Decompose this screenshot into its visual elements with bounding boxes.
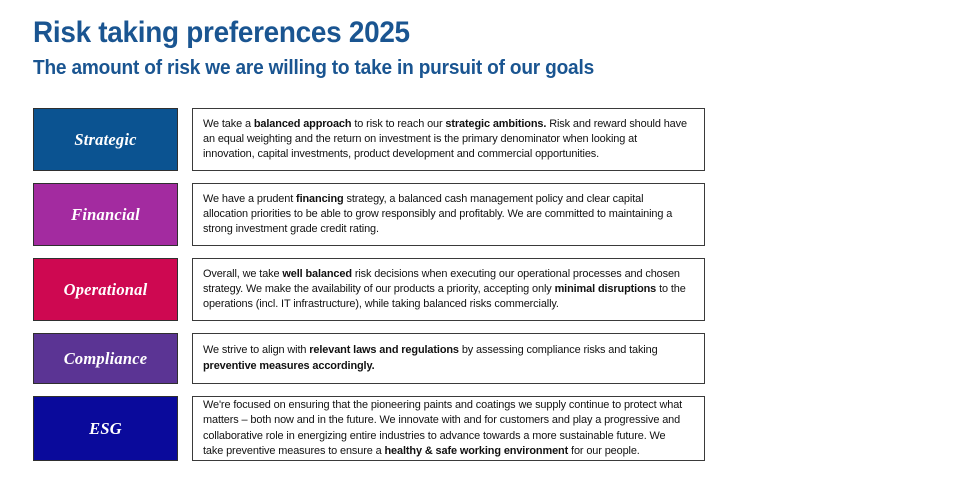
row-spacer xyxy=(33,384,705,396)
table-row: FinancialWe have a prudent financing str… xyxy=(33,183,705,246)
plain-text: Overall, we take xyxy=(203,268,282,280)
risk-description-cell: We strive to align with relevant laws an… xyxy=(192,333,705,384)
slide-header: Risk taking preferences 2025 The amount … xyxy=(33,16,913,80)
risk-category-cell[interactable]: Compliance xyxy=(33,333,178,384)
risk-description-cell: We're focused on ensuring that the pione… xyxy=(192,396,705,461)
table-row: StrategicWe take a balanced approach to … xyxy=(33,108,705,171)
table-row: ESGWe're focused on ensuring that the pi… xyxy=(33,396,705,461)
emphasis-text: well balanced xyxy=(282,268,352,280)
risk-category-cell[interactable]: ESG xyxy=(33,396,178,461)
table-row: OperationalOverall, we take well balance… xyxy=(33,258,705,321)
plain-text: We have a prudent xyxy=(203,193,296,205)
emphasis-text: strategic ambitions. xyxy=(445,118,546,130)
page-title: Risk taking preferences 2025 xyxy=(33,16,851,50)
risk-description-text: We're focused on ensuring that the pione… xyxy=(203,398,688,459)
row-spacer xyxy=(33,246,705,258)
page-subtitle: The amount of risk we are willing to tak… xyxy=(33,56,851,80)
risk-category-cell[interactable]: Financial xyxy=(33,183,178,246)
risk-category-label: Compliance xyxy=(64,350,148,368)
risk-category-label: Operational xyxy=(64,281,148,299)
table-row: ComplianceWe strive to align with releva… xyxy=(33,333,705,384)
emphasis-text: financing xyxy=(296,193,344,205)
risk-category-cell[interactable]: Strategic xyxy=(33,108,178,171)
risk-category-label: ESG xyxy=(89,420,122,438)
column-gap xyxy=(178,183,192,246)
emphasis-text: minimal disruptions xyxy=(555,283,657,295)
risk-description-text: We take a balanced approach to risk to r… xyxy=(203,117,688,163)
risk-description-text: We have a prudent financing strategy, a … xyxy=(203,192,688,238)
plain-text: for our people. xyxy=(568,445,640,457)
risk-description-cell: Overall, we take well balanced risk deci… xyxy=(192,258,705,321)
column-gap xyxy=(178,108,192,171)
risk-category-label: Strategic xyxy=(74,131,136,149)
slide-canvas: Risk taking preferences 2025 The amount … xyxy=(0,0,960,500)
risk-description-text: Overall, we take well balanced risk deci… xyxy=(203,267,688,313)
plain-text: by assessing compliance risks and taking xyxy=(459,344,658,356)
risk-description-cell: We have a prudent financing strategy, a … xyxy=(192,183,705,246)
risk-preferences-table: StrategicWe take a balanced approach to … xyxy=(33,108,705,461)
emphasis-text: preventive measures accordingly. xyxy=(203,360,375,372)
emphasis-text: healthy & safe working environment xyxy=(385,445,569,457)
risk-description-cell: We take a balanced approach to risk to r… xyxy=(192,108,705,171)
risk-description-text: We strive to align with relevant laws an… xyxy=(203,343,688,373)
column-gap xyxy=(178,396,192,461)
risk-category-label: Financial xyxy=(71,206,140,224)
column-gap xyxy=(178,258,192,321)
plain-text: We strive to align with xyxy=(203,344,309,356)
plain-text: We take a xyxy=(203,118,254,130)
risk-category-cell[interactable]: Operational xyxy=(33,258,178,321)
plain-text: to risk to reach our xyxy=(351,118,445,130)
column-gap xyxy=(178,333,192,384)
row-spacer xyxy=(33,171,705,183)
row-spacer xyxy=(33,321,705,333)
emphasis-text: relevant laws and regulations xyxy=(309,344,459,356)
emphasis-text: balanced approach xyxy=(254,118,352,130)
